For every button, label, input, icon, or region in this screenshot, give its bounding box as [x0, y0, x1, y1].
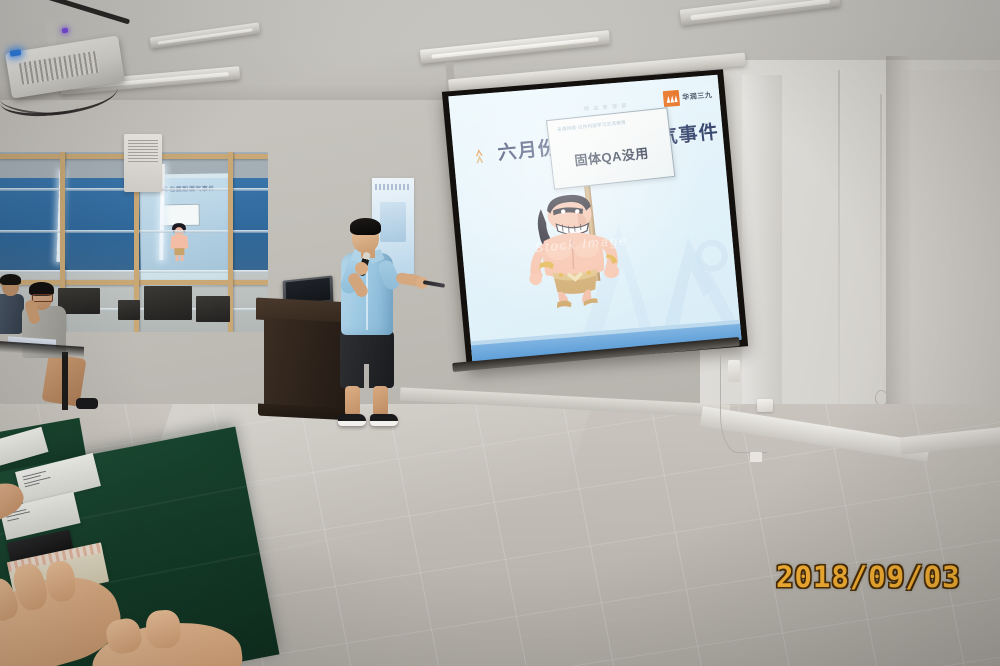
screen-pull-cord: [880, 94, 882, 394]
presenter-leg: [373, 386, 388, 416]
brand-logo: 华润三九: [663, 87, 713, 107]
sign-source-note: 来源网络·仅供内部学习交流使用: [557, 116, 659, 134]
podium: [264, 317, 346, 414]
sign-main-text: 固体QA没用: [551, 140, 673, 172]
screen-canvas: 华润三九 六月份外包氨酚漏气事件 精 益 管 理 部 来源网络·仅供内部学习交流…: [448, 75, 741, 362]
audience-member-shoe: [76, 398, 98, 409]
presenter-hand: [355, 262, 368, 275]
projection-screen: 华润三九 六月份外包氨酚漏气事件 精 益 管 理 部 来源网络·仅供内部学习交流…: [442, 69, 748, 368]
desk-leg: [62, 352, 68, 410]
reflected-cartoon-figure: [166, 222, 193, 262]
slide-corner-logo-icon: [471, 148, 487, 165]
eyeglasses-icon: [32, 294, 53, 302]
banner-image: [380, 202, 406, 242]
brand-name: 华润三九: [682, 90, 713, 102]
presenter-shoe: [338, 414, 366, 426]
equipment-box: [196, 296, 230, 322]
wall-power-outlet: [757, 399, 773, 412]
banner-heading-text: [375, 184, 411, 190]
camera-date-stamp: 2018/09/03: [776, 560, 961, 594]
slide-sign-board: 来源网络·仅供内部学习交流使用 固体QA没用: [546, 107, 675, 190]
conference-room-photo: 六月份外包氨酚漏气事件: [0, 0, 1000, 666]
presentation-slide: 华润三九 六月份外包氨酚漏气事件 精 益 管 理 部 来源网络·仅供内部学习交流…: [448, 75, 741, 362]
ac-grill: [128, 140, 158, 162]
wall-seam: [838, 70, 840, 440]
presenter-shoe: [370, 414, 398, 426]
equipment-box: [118, 300, 140, 320]
presenter-hair: [350, 218, 381, 235]
presenter-leg: [345, 386, 360, 416]
audience-member-body: [0, 294, 24, 334]
presenter-shorts-gap: [364, 364, 369, 388]
wall-floor-outlet: [750, 452, 762, 462]
equipment-box: [144, 286, 192, 320]
audience-member-hair: [0, 274, 21, 285]
air-conditioner-unit: [124, 134, 162, 192]
wall-cable-clip: [728, 360, 740, 382]
